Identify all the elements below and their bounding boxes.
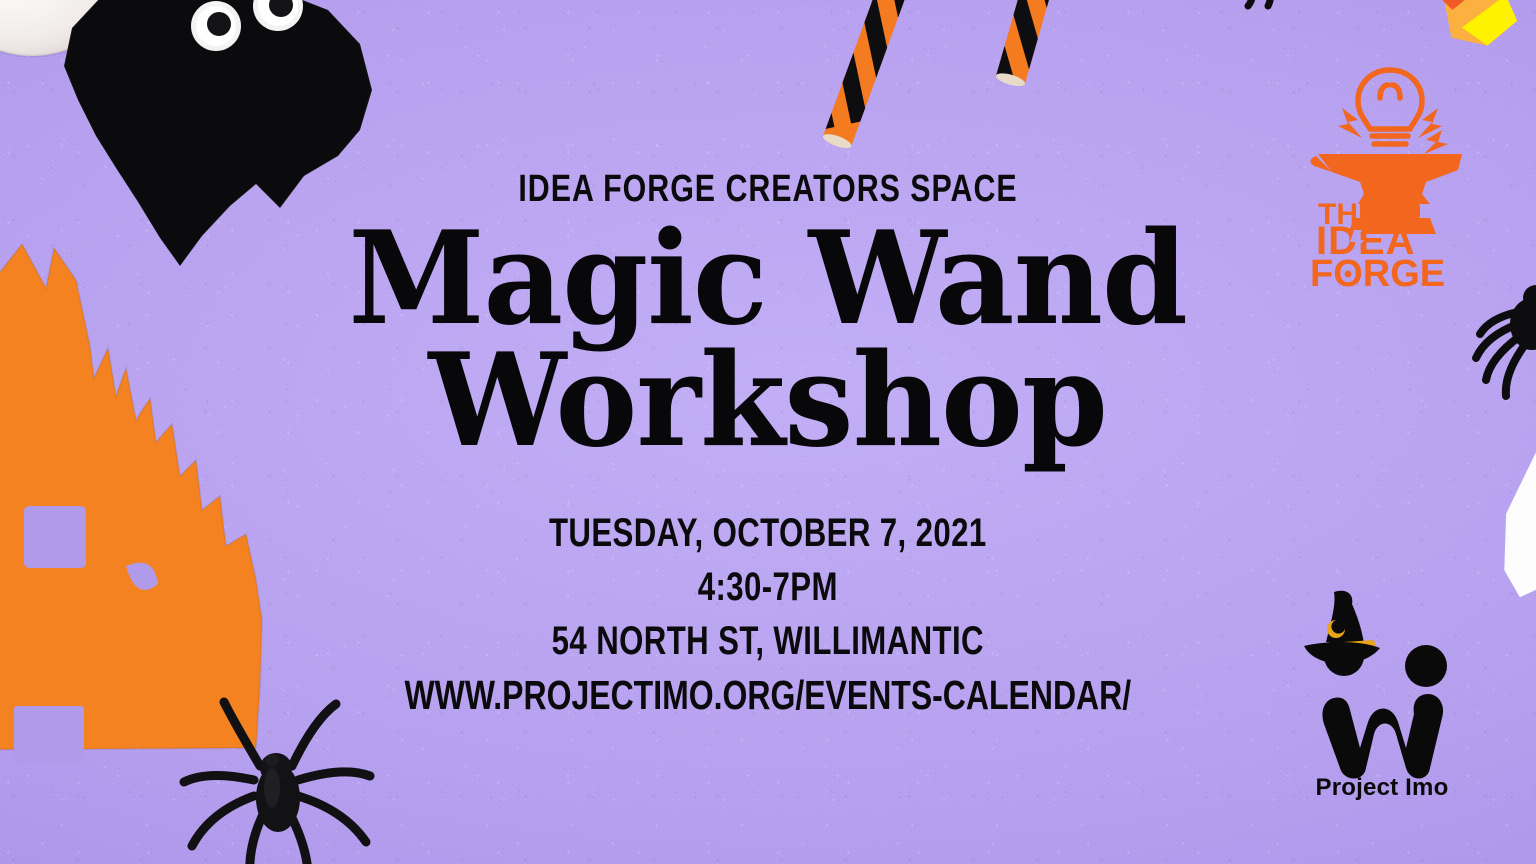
googly-eyes-prop [186,0,306,58]
event-flyer: THE IDEA FORGE THE IDEA FORGE [0,0,1536,864]
witch-hat-figures-icon [1296,588,1468,798]
project-imo-logo[interactable]: Project Imo [1296,588,1468,798]
idea-forge-logo[interactable]: THE IDEA FORGE THE IDEA FORGE [1302,58,1478,268]
project-imo-wordmark: Project Imo [1296,774,1468,802]
spider-leg-prop-top [1236,0,1306,34]
spider-icon [1466,268,1536,418]
spider-prop-bottom-left [142,704,412,864]
googly-eyes-icon [186,0,306,58]
lightbulb-anvil-icon: THE IDEA FORGE [1302,58,1478,268]
spider-icon [142,704,412,864]
svg-text:FORGE: FORGE [1310,253,1445,295]
spider-prop-right [1466,268,1536,418]
haunted-house-icon [0,228,274,758]
haunted-house-prop [0,228,274,758]
spider-icon [1236,0,1306,34]
